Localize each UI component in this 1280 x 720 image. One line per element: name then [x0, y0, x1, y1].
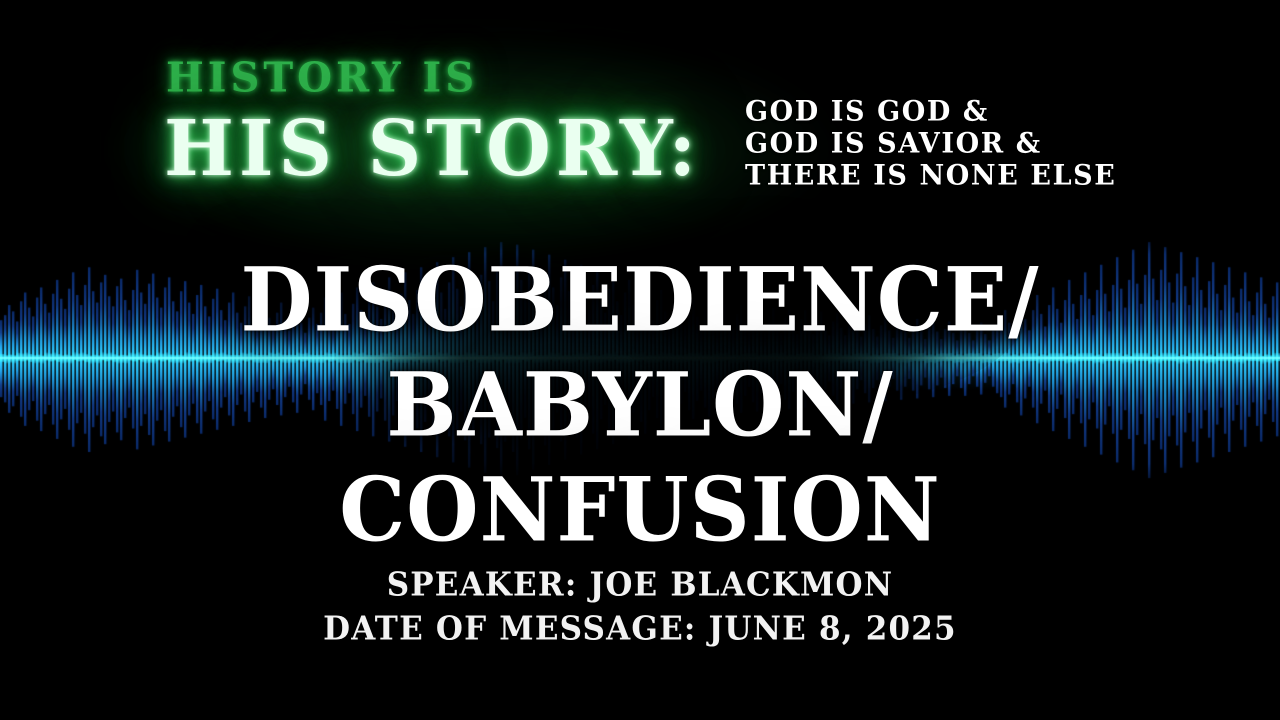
- sermon-credits: SPEAKER: JOE BLACKMON DATE OF MESSAGE: J…: [0, 563, 1280, 651]
- tagline-line-1: GOD IS GOD &: [745, 95, 1116, 129]
- title-card: HISTORY IS HIS STORY: GOD IS GOD & GOD I…: [0, 0, 1280, 720]
- series-title-text: HIS STORY:: [164, 104, 701, 193]
- sermon-title-line-2: BABYLON/: [0, 350, 1280, 461]
- date-line: DATE OF MESSAGE: JUNE 8, 2025: [0, 606, 1280, 652]
- sermon-title-line-1: DISOBEDIENCE/: [0, 245, 1280, 356]
- series-tagline: GOD IS GOD & GOD IS SAVIOR & THERE IS NO…: [745, 96, 1116, 192]
- sermon-title-line-3: CONFUSION: [0, 455, 1280, 566]
- tagline-line-3: THERE IS NONE ELSE: [745, 159, 1116, 193]
- series-kicker-text: HISTORY IS: [166, 54, 478, 102]
- tagline-line-2: GOD IS SAVIOR &: [745, 127, 1116, 161]
- speaker-line: SPEAKER: JOE BLACKMON: [0, 562, 1280, 608]
- sermon-title: DISOBEDIENCE/ BABYLON/ CONFUSION: [0, 248, 1280, 563]
